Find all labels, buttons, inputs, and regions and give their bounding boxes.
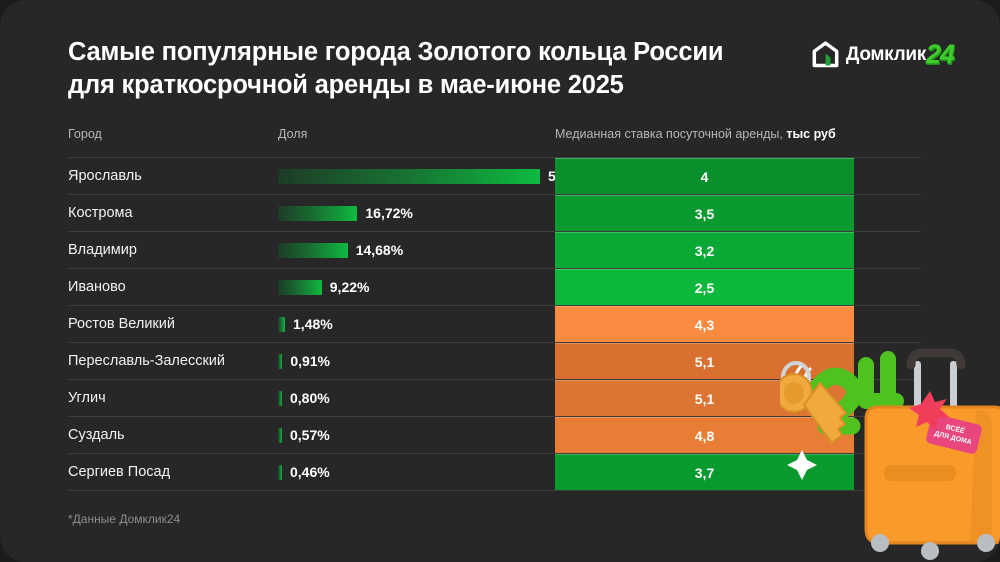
table-row: Переславль-Залесский0,91%5,1 [68, 342, 921, 379]
column-header-city: Город [68, 127, 102, 141]
cell-median-rate: 3,5 [555, 195, 854, 231]
cell-city: Углич [68, 380, 106, 416]
cell-city: Иваново [68, 269, 126, 305]
cell-median-rate: 5,1 [555, 380, 854, 416]
cell-share: 14,68% [278, 232, 403, 268]
cell-share: 55,18% [278, 158, 595, 194]
cell-city: Ростов Великий [68, 306, 175, 342]
share-bar [278, 465, 282, 480]
cell-share: 0,80% [278, 380, 330, 416]
share-value-label: 0,80% [290, 390, 330, 406]
cell-median-rate: 4 [555, 158, 854, 194]
cell-city: Переславль-Залесский [68, 343, 225, 379]
share-value-label: 9,22% [330, 279, 370, 295]
column-header-rate: Медианная ставка посуточной аренды, тыс … [555, 127, 836, 141]
table-row: Углич0,80%5,1 [68, 379, 921, 416]
cell-share: 0,46% [278, 454, 330, 490]
brand-logo: Домклик 24 [812, 39, 954, 70]
table-column-headers: Город Доля Медианная ставка посуточной а… [68, 127, 921, 157]
table-row: Ярославль55,18%4 [68, 157, 921, 194]
cell-median-rate: 2,5 [555, 269, 854, 305]
svg-text:ДЛЯ ДОМА: ДЛЯ ДОМА [934, 430, 973, 446]
share-bar [278, 428, 282, 443]
data-table: Город Доля Медианная ставка посуточной а… [68, 127, 921, 491]
column-header-rate-unit: тыс руб [786, 127, 835, 141]
svg-text:ВСЁЁ: ВСЁЁ [945, 423, 966, 435]
cell-city: Сергиев Посад [68, 454, 170, 490]
table-row: Сергиев Посад0,46%3,7 [68, 453, 921, 491]
share-bar [278, 317, 285, 332]
table-row: Владимир14,68%3,2 [68, 231, 921, 268]
cell-city: Ярославль [68, 158, 142, 194]
share-value-label: 0,91% [290, 353, 330, 369]
logo-24-badge: 24 [926, 39, 954, 70]
share-bar [278, 391, 282, 406]
page-title: Самые популярные города Золотого кольца … [68, 36, 723, 101]
cell-share: 1,48% [278, 306, 333, 342]
cell-city: Суздаль [68, 417, 125, 453]
house-icon [812, 41, 839, 68]
share-value-label: 0,57% [290, 427, 330, 443]
share-value-label: 1,48% [293, 316, 333, 332]
column-header-share: Доля [278, 127, 307, 141]
cell-median-rate: 4,3 [555, 306, 854, 342]
share-bar [278, 243, 348, 258]
cell-share: 16,72% [278, 195, 413, 231]
infographic-card: Самые популярные города Золотого кольца … [0, 0, 1000, 562]
cell-city: Владимир [68, 232, 137, 268]
share-value-label: 0,46% [290, 464, 330, 480]
table-body: Ярославль55,18%4Кострома16,72%3,5Владими… [68, 157, 921, 491]
share-bar [278, 280, 322, 295]
share-value-label: 14,68% [356, 242, 403, 258]
table-row: Кострома16,72%3,5 [68, 194, 921, 231]
cell-median-rate: 5,1 [555, 343, 854, 379]
logo-wordmark: Домклик [846, 44, 926, 66]
suitcase-sticker: ВСЁЁ ДЛЯ ДОМА [925, 413, 983, 455]
table-row: Суздаль0,57%4,8 [68, 416, 921, 453]
cell-share: 0,91% [278, 343, 330, 379]
cell-median-rate: 3,7 [555, 454, 854, 490]
cell-median-rate: 3,2 [555, 232, 854, 268]
table-row: Иваново9,22%2,5 [68, 268, 921, 305]
cell-city: Кострома [68, 195, 133, 231]
header: Самые популярные города Золотого кольца … [68, 36, 954, 101]
share-bar [278, 169, 540, 184]
cell-share: 9,22% [278, 269, 369, 305]
cell-share: 0,57% [278, 417, 330, 453]
share-bar [278, 354, 282, 369]
column-header-rate-prefix: Медианная ставка посуточной аренды, [555, 127, 786, 141]
source-footnote: *Данные Домклик24 [68, 512, 180, 526]
cell-median-rate: 4,8 [555, 417, 854, 453]
table-row: Ростов Великий1,48%4,3 [68, 305, 921, 342]
share-value-label: 16,72% [365, 205, 412, 221]
share-bar [278, 206, 357, 221]
